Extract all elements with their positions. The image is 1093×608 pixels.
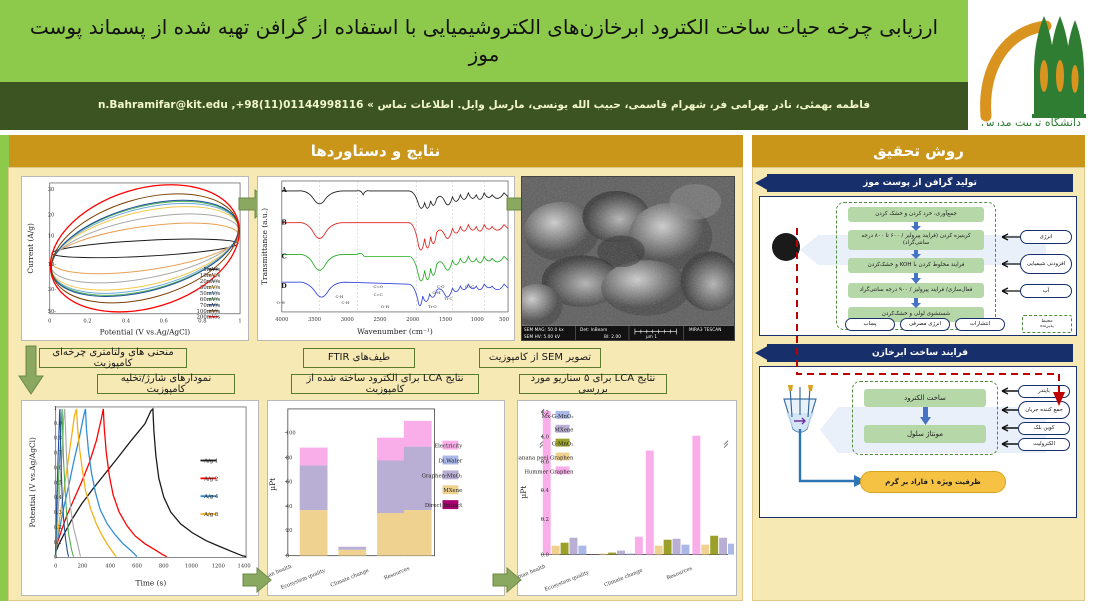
- gcd-legend-1: 2 A/g: [203, 476, 218, 482]
- figure-sem-image: SEM MAG: 50.0 kx SEM HV: 5.00 kV Det: In…: [521, 176, 735, 341]
- caption-lca-scenarios-label: نتایج LCA برای ۵ سناریو مورد بررسی: [523, 373, 663, 396]
- caption-lca-electrode: نتایج LCA برای الکترود ساخته شده از کامپ…: [291, 374, 479, 394]
- sem-micrograph: [522, 177, 734, 340]
- caption-cv: منحنی های ولتامتری چرخه‌ای کامپوزیت: [39, 348, 187, 368]
- gcd-ylabel: Potential (V vs.Ag/AgCl): [28, 437, 37, 528]
- svg-text:800: 800: [159, 564, 169, 570]
- cv-legend: 5mV/s 10mV/s 20mV/s 30mV/s 50mV/s 60mV/s…: [197, 267, 221, 321]
- stage1-chevron-icon: [755, 174, 771, 192]
- bar-resources: [404, 421, 432, 556]
- svg-text:Ti-O: Ti-O: [428, 304, 437, 309]
- svg-text:100: 100: [286, 431, 296, 437]
- svg-text:0.1: 0.1: [54, 540, 62, 546]
- sem-scalebar-label: 1 µm: [646, 334, 657, 339]
- caption-lca-electrode-label: نتایج LCA برای الکترود ساخته شده از کامپ…: [295, 373, 475, 396]
- lca-scenarios-legend-4: Hummer Graphen: [524, 469, 574, 475]
- svg-text:Ti-C: Ti-C: [444, 296, 452, 301]
- method-result-capacity: ظرفیت ویژه ۱ فاراد بر گرم: [860, 471, 1006, 493]
- bar-human-health: [300, 448, 328, 556]
- svg-text:1: 1: [54, 406, 57, 412]
- svg-text:1200: 1200: [212, 564, 225, 570]
- poster-authors: فاطمه بهمئی، نادر بهرامی فر، شهرام قاسمی…: [98, 99, 870, 113]
- svg-text:0.4: 0.4: [541, 488, 550, 494]
- svg-text:20: 20: [286, 528, 293, 534]
- arrow-down-gcd-icon: [17, 344, 45, 396]
- lca-scenarios-legend-1: MXene: [554, 428, 573, 434]
- svg-text:0.5: 0.5: [54, 480, 62, 486]
- lca-electrode-legend-2: Graphen-MnO₂: [422, 473, 463, 479]
- figure-gcd-curves: 10.9 0.80.7 0.60.5 0.40.3 0.20.1 0 0200 …: [21, 400, 259, 596]
- method-feedback-line-icon: [759, 228, 1077, 458]
- caption-cv-label: منحنی های ولتامتری چرخه‌ای کامپوزیت: [43, 347, 183, 370]
- lca-scenarios-legend-2: G-MnO₂: [552, 442, 574, 448]
- svg-text:40: 40: [286, 504, 293, 510]
- svg-text:4.0: 4.0: [541, 435, 549, 441]
- svg-text:3000: 3000: [341, 317, 354, 323]
- svg-text:0.2: 0.2: [83, 319, 91, 325]
- svg-text:500: 500: [499, 317, 509, 323]
- svg-text:1000: 1000: [185, 564, 198, 570]
- svg-text:C=C: C=C: [374, 292, 383, 297]
- gcd-legend-3: 8 A/g: [203, 512, 219, 518]
- method-panel: تولید گرافن از پوست موز جمع‌آوری، خرد کر…: [752, 167, 1085, 601]
- ftir-trace-d: D: [281, 282, 287, 290]
- svg-text:C=O: C=O: [373, 284, 383, 289]
- svg-text:60: 60: [286, 479, 293, 485]
- svg-text:0.2: 0.2: [54, 525, 62, 531]
- svg-text:80: 80: [286, 456, 293, 462]
- method-stage1-band-label: تولید گرافن از پوست موز: [863, 178, 977, 188]
- svg-text:-50: -50: [48, 309, 57, 315]
- ftir-ylabel: Transmittance (a.u.): [260, 208, 269, 285]
- sem-mag-label: SEM MAG: 50.0 kx: [524, 327, 564, 332]
- svg-text:C-H: C-H: [336, 294, 344, 299]
- sem-bi-label: BI: 2.00: [604, 334, 621, 339]
- method-result-capacity-label: ظرفیت ویژه ۱ فاراد بر گرم: [885, 478, 981, 486]
- caption-gcd-label: نمودارهای شارژ/تخلیه کامپوزیت: [101, 373, 231, 396]
- gcd-legend-0: 1 A/g: [203, 458, 218, 464]
- figure-lca-scenarios: 4.24.0 0.60.4 0.20.0 µPt Human health Ec…: [517, 400, 737, 596]
- section-band-method-label: روش تحقیق: [873, 142, 964, 160]
- svg-text:600: 600: [132, 564, 142, 570]
- svg-text:30: 30: [48, 187, 55, 193]
- svg-text:0.2: 0.2: [541, 517, 549, 523]
- svg-text:C-H: C-H: [341, 300, 349, 305]
- lca-electrode-chart: 10080 6040 200 µPt Human health Ecosyste…: [268, 401, 504, 595]
- results-panel: 3020 10-10 -30-50 00.2 0.40.6 0.81 Poten…: [8, 167, 743, 601]
- svg-text:20: 20: [48, 213, 55, 219]
- svg-text:0: 0: [54, 555, 57, 561]
- svg-text:2000: 2000: [406, 317, 419, 323]
- caption-gcd: نمودارهای شارژ/تخلیه کامپوزیت: [97, 374, 235, 394]
- svg-text:-30: -30: [48, 287, 57, 293]
- lca-electrode-legend-3: MXene: [443, 488, 462, 494]
- svg-text:2500: 2500: [374, 317, 387, 323]
- svg-text:1000: 1000: [471, 317, 484, 323]
- lca-electrode-legend-0: Electricity: [434, 444, 462, 450]
- svg-text:10: 10: [48, 233, 55, 239]
- svg-text:0.4: 0.4: [122, 319, 131, 325]
- method-stage1-step-0: جمع‌آوری، خرد کردن و خشک کردن: [848, 207, 984, 222]
- ftir-trace-a: A: [281, 186, 288, 194]
- caption-ftir-label: طیف‌های FTIR: [328, 352, 390, 364]
- cv-ylabel: Current (A/g): [26, 223, 35, 274]
- svg-text:0.4: 0.4: [54, 495, 63, 501]
- logo-caption: دانشگاه تربیت مدرس: [981, 116, 1081, 126]
- arrow-lca-scenarios-icon: [491, 566, 523, 594]
- svg-text:1: 1: [238, 319, 241, 325]
- ftir-xlabel: Wavenumber (cm⁻¹): [357, 327, 433, 336]
- svg-text:400: 400: [105, 564, 115, 570]
- lca-electrode-legend-1: Di.Water: [439, 458, 463, 464]
- lca-electrode-legend-4: Direct Impact: [425, 503, 463, 509]
- lca-scenarios-legend-3: Banana peel Graphen: [518, 455, 574, 461]
- tarbiat-modares-logo-icon: دانشگاه تربیت مدرس: [972, 4, 1090, 126]
- ftir-chart: A B C D O-HC-H C-HC=O C=CO-H O-HC-O Ti-C…: [258, 177, 514, 341]
- sem-vendor-label: MIRA3 TESCAN: [689, 327, 721, 332]
- sem-hv-label: SEM HV: 5.00 kV: [524, 334, 560, 339]
- svg-text:O-H: O-H: [277, 300, 286, 305]
- lca-scenarios-ylabel: µPt: [519, 486, 528, 499]
- caption-sem: تصویر SEM از کامپوزیت: [479, 348, 601, 368]
- svg-text:3500: 3500: [308, 317, 321, 323]
- svg-text:1500: 1500: [439, 317, 452, 323]
- lca-scenarios-chart: 4.24.0 0.60.4 0.20.0 µPt Human health Ec…: [518, 401, 736, 595]
- bar-climate-change: [377, 438, 405, 556]
- caption-ftir: طیف‌های FTIR: [303, 348, 415, 368]
- svg-text:O-H: O-H: [381, 304, 390, 309]
- university-logo: دانشگاه تربیت مدرس: [968, 0, 1093, 130]
- ftir-trace-c: C: [282, 252, 287, 260]
- cv-xlabel: Potential (V vs.Ag/AgCl): [100, 328, 191, 337]
- lca-scenarios-legend-0: Mx-G-MnO₂: [542, 414, 574, 420]
- lca-electrode-ylabel: µPt: [268, 478, 277, 491]
- svg-text:0: 0: [54, 564, 57, 570]
- svg-text:0.6: 0.6: [160, 319, 168, 325]
- caption-lca-scenarios: نتایج LCA برای ۵ سناریو مورد بررسی: [519, 374, 667, 394]
- svg-text:0.8: 0.8: [54, 436, 62, 442]
- arrow-lca-electrode-icon: [241, 566, 273, 594]
- section-band-method: روش تحقیق: [752, 135, 1085, 167]
- svg-text:O=C: O=C: [465, 284, 475, 289]
- cv-legend-8: 200mV/s: [197, 315, 221, 321]
- caption-sem-label: تصویر SEM از کامپوزیت: [489, 352, 591, 364]
- svg-text:0.0: 0.0: [541, 553, 549, 559]
- section-band-results: نتایج و دستاوردها: [8, 135, 743, 167]
- poster-title: ارزیابی چرخه حیات ساخت الکترود ابرخازن‌ه…: [14, 14, 954, 68]
- gcd-chart: 10.9 0.80.7 0.60.5 0.40.3 0.20.1 0 0200 …: [22, 401, 258, 595]
- svg-text:4000: 4000: [275, 317, 288, 323]
- poster-root: ارزیابی چرخه حیات ساخت الکترود ابرخازن‌ه…: [0, 0, 1093, 608]
- poster-title-bar: ارزیابی چرخه حیات ساخت الکترود ابرخازن‌ه…: [0, 0, 968, 82]
- section-band-results-label: نتایج و دستاوردها: [311, 142, 441, 160]
- svg-text:0: 0: [286, 554, 289, 560]
- ftir-trace-b: B: [281, 219, 287, 227]
- bar-ecosystem-quality: [338, 547, 366, 556]
- svg-text:C-O: C-O: [437, 284, 445, 289]
- poster-authors-bar: فاطمه بهمئی، نادر بهرامی فر، شهرام قاسمی…: [0, 82, 968, 130]
- svg-text:O-H: O-H: [432, 290, 441, 295]
- method-stage1-step-0-label: جمع‌آوری، خرد کردن و خشک کردن: [875, 211, 957, 218]
- svg-text:200: 200: [78, 564, 88, 570]
- svg-text:0.6: 0.6: [54, 465, 62, 471]
- cv-chart: 3020 10-10 -30-50 00.2 0.40.6 0.81 Poten…: [22, 177, 248, 341]
- svg-text:0: 0: [48, 319, 51, 325]
- figure-lca-electrode: 10080 6040 200 µPt Human health Ecosyste…: [267, 400, 505, 596]
- method-stage1-band: تولید گرافن از پوست موز: [767, 174, 1073, 192]
- gcd-legend-2: 4 A/g: [203, 494, 219, 500]
- svg-text:0.9: 0.9: [54, 421, 62, 427]
- svg-text:0.3: 0.3: [54, 510, 62, 516]
- figure-ftir-spectra: A B C D O-HC-H C-HC=O C=CO-H O-HC-O Ti-C…: [257, 176, 515, 341]
- svg-text:0.7: 0.7: [54, 451, 62, 457]
- gcd-xlabel: Time (s): [136, 578, 167, 587]
- figure-cv-curves: 3020 10-10 -30-50 00.2 0.40.6 0.81 Poten…: [21, 176, 249, 341]
- svg-text:-10: -10: [48, 262, 57, 268]
- sem-det-label: Det: InBeam: [580, 327, 607, 332]
